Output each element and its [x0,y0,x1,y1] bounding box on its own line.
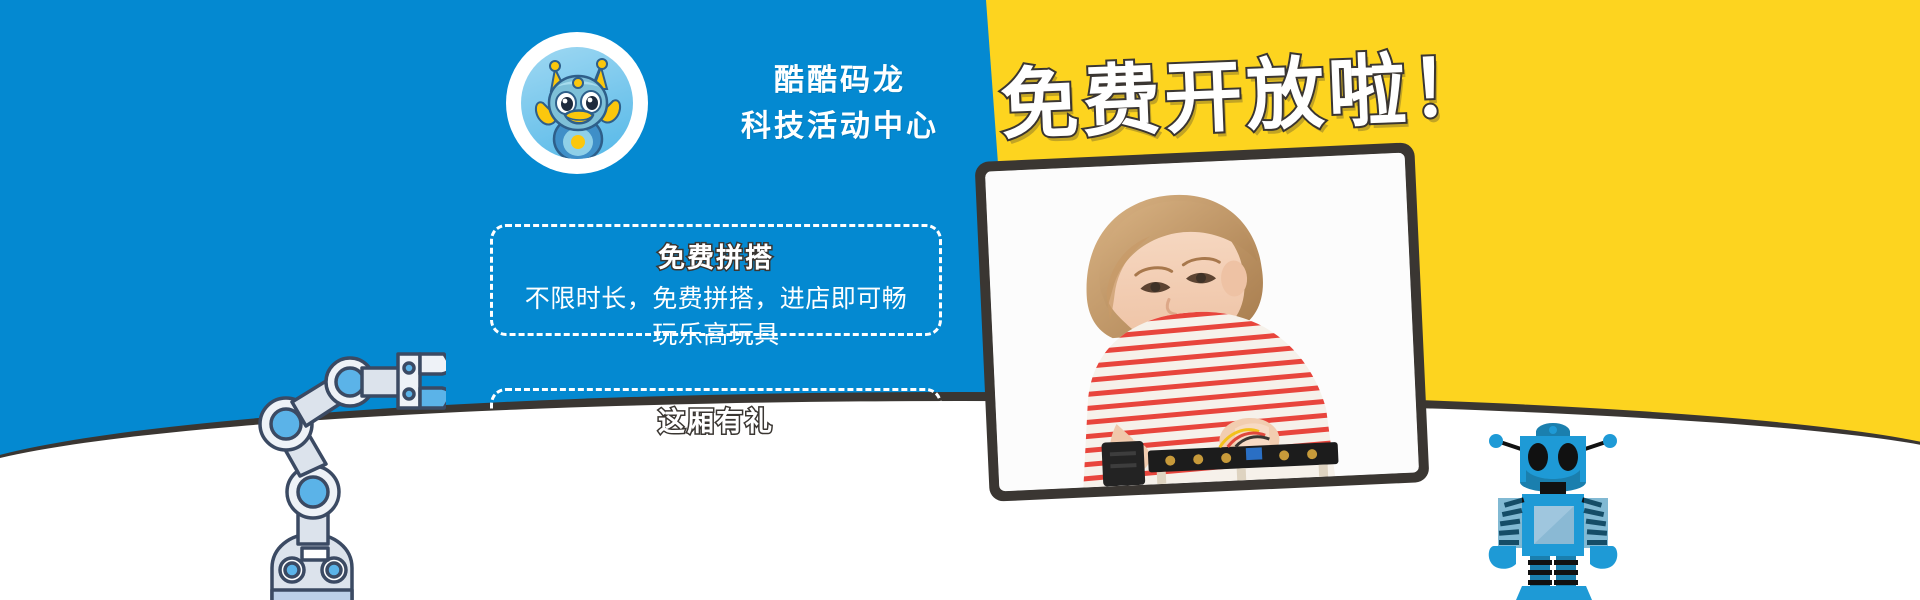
photo-image [985,153,1419,492]
card-body-line: 进店即可赠送精美礼品一份，开业 [509,445,923,480]
card-body-line: 不限时长，免费拼搭，进店即可畅 [509,281,923,317]
card-body-line: 砸金蛋中彩金3000元，活动期间 [509,480,923,515]
card-title-gift-offer: 这厢有礼 [509,405,923,439]
info-card-gift-offer: 这厢有礼 进店即可赠送精美礼品一份，开业 砸金蛋中彩金3000元，活动期间 成功… [490,388,942,542]
card-title-free-build: 免费拼搭 [509,241,923,275]
brand-text-block: 酷酷码龙 科技活动中心 [700,58,980,150]
mascot-dragon-icon [521,47,633,159]
brand-name-line1: 酷酷码龙 [700,58,980,104]
robotic-arm-illustration [246,352,446,600]
toy-robot-illustration [1478,420,1628,600]
girl-electronics-illustration [985,153,1419,492]
brand-logo-badge [506,32,648,174]
card-body-line: 成功报名者即享2600元优惠 [509,515,923,550]
promotional-banner: 酷酷码龙 科技活动中心 免费开放啦！ 免费拼搭 不限时长，免费拼搭，进店即可畅 … [0,0,1920,600]
brand-name-line2: 科技活动中心 [700,104,980,150]
info-card-free-build: 免费拼搭 不限时长，免费拼搭，进店即可畅 玩乐高玩具 [490,224,942,336]
photo-frame [975,142,1430,502]
card-body-gift-offer: 进店即可赠送精美礼品一份，开业 砸金蛋中彩金3000元，活动期间 成功报名者即享… [509,445,923,550]
headline-text: 免费开放啦！ [998,25,1494,156]
card-body-free-build: 不限时长，免费拼搭，进店即可畅 玩乐高玩具 [509,281,923,353]
card-body-line: 玩乐高玩具 [509,317,923,353]
